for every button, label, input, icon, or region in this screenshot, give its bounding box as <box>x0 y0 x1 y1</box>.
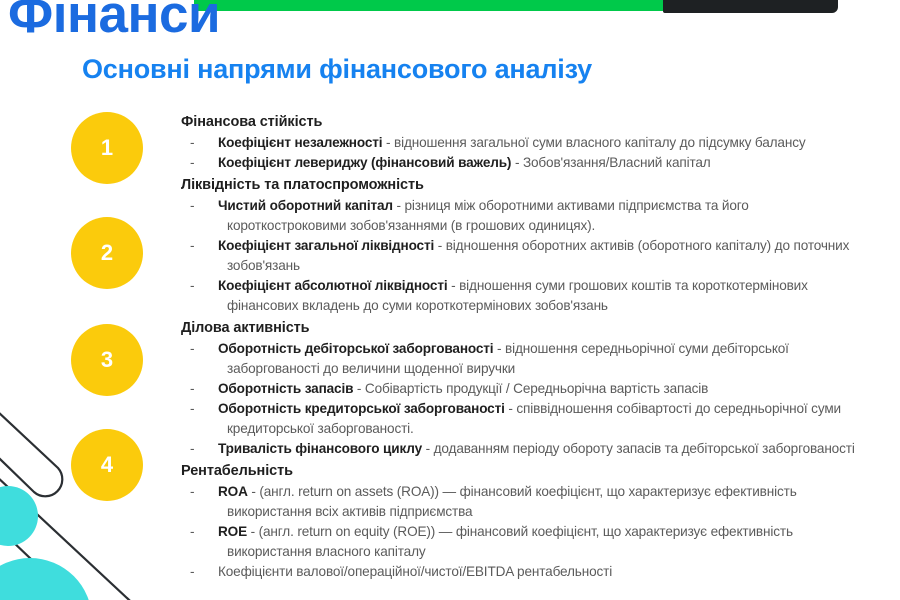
bullet-item: ROA - (англ. return on assets (ROA)) — ф… <box>181 482 871 522</box>
bullet-term: ROE <box>218 524 247 539</box>
bullet-term: Оборотність дебіторської заборгованості <box>218 341 493 356</box>
bullet-item: Оборотність дебіторської заборгованості … <box>181 339 871 379</box>
cyan-semicircle <box>0 558 92 600</box>
section-block: Ділова активністьОборотність дебіторсько… <box>181 318 871 459</box>
bullet-description: - Зобов'язання/Власний капітал <box>511 155 710 170</box>
bullet-description: - (англ. return on equity (ROE)) — фінан… <box>227 524 793 559</box>
section-block: РентабельністьROA - (англ. return on ass… <box>181 461 871 582</box>
bullet-description: - відношення загальної суми власного кап… <box>382 135 805 150</box>
bullet-item: Чистий оборотний капітал - різниця між о… <box>181 196 871 236</box>
cyan-circle-small <box>0 486 38 546</box>
bullet-term: ROA <box>218 484 248 499</box>
bullet-description: - Собівартість продукції / Середньорічна… <box>353 381 708 396</box>
bullet-item: Коефіцієнт левериджу (фінансовий важель)… <box>181 153 871 173</box>
step-number-2: 2 <box>71 217 143 289</box>
section-block: Ліквідність та платоспроможністьЧистий о… <box>181 175 871 316</box>
bullet-term: Коефіцієнт незалежності <box>218 135 382 150</box>
bullet-item: Коефіцієнт незалежності - відношення заг… <box>181 133 871 153</box>
bullet-description: - додаванням періоду обороту запасів та … <box>422 441 855 456</box>
bullet-term: Оборотність запасів <box>218 381 353 396</box>
bullet-term: Коефіцієнт левериджу (фінансовий важель) <box>218 155 511 170</box>
top-green-bar <box>194 0 663 11</box>
page-subtitle: Основні напрями фінансового аналізу <box>82 54 592 85</box>
top-dark-bar <box>663 0 838 13</box>
bullet-term: Коефіцієнт абсолютної ліквідності <box>218 278 447 293</box>
bullet-item: Коефіцієнт загальної ліквідності - відно… <box>181 236 871 276</box>
bullet-term: Чистий оборотний капітал <box>218 198 393 213</box>
section-block: Фінансова стійкістьКоефіцієнт незалежнос… <box>181 112 871 173</box>
bullet-list: ROA - (англ. return on assets (ROA)) — ф… <box>181 482 871 582</box>
section-heading: Фінансова стійкість <box>181 112 871 133</box>
section-heading: Рентабельність <box>181 461 871 482</box>
content-list: Фінансова стійкістьКоефіцієнт незалежнос… <box>181 112 871 583</box>
section-heading: Ділова активність <box>181 318 871 339</box>
bullet-list: Коефіцієнт незалежності - відношення заг… <box>181 133 871 173</box>
slide-canvas: Фінанси Основні напрями фінансового анал… <box>0 0 900 600</box>
bullet-item: ROE - (англ. return on equity (ROE)) — ф… <box>181 522 871 562</box>
bullet-term: Оборотність кредиторської заборгованості <box>218 401 505 416</box>
bullet-list: Оборотність дебіторської заборгованості … <box>181 339 871 459</box>
bullet-item: Тривалість фінансового циклу - додавання… <box>181 439 871 459</box>
decorative-shapes <box>0 400 180 600</box>
step-number-3: 3 <box>71 324 143 396</box>
section-heading: Ліквідність та платоспроможність <box>181 175 871 196</box>
bullet-item: Оборотність кредиторської заборгованості… <box>181 399 871 439</box>
step-number-4: 4 <box>71 429 143 501</box>
bullet-term: Тривалість фінансового циклу <box>218 441 422 456</box>
bullet-item: Оборотність запасів - Собівартість проду… <box>181 379 871 399</box>
bullet-term: Коефіцієнт загальної ліквідності <box>218 238 434 253</box>
bullet-item: Коефіцієнти валової/операційної/чистої/E… <box>181 562 871 582</box>
paperclip-icon <box>0 400 180 600</box>
bullet-list: Чистий оборотний капітал - різниця між о… <box>181 196 871 316</box>
bullet-description: - (англ. return on assets (ROA)) — фінан… <box>227 484 797 519</box>
step-number-1: 1 <box>71 112 143 184</box>
bullet-item: Коефіцієнт абсолютної ліквідності - відн… <box>181 276 871 316</box>
page-title: Фінанси <box>8 0 220 43</box>
bullet-description: Коефіцієнти валової/операційної/чистої/E… <box>218 564 612 579</box>
